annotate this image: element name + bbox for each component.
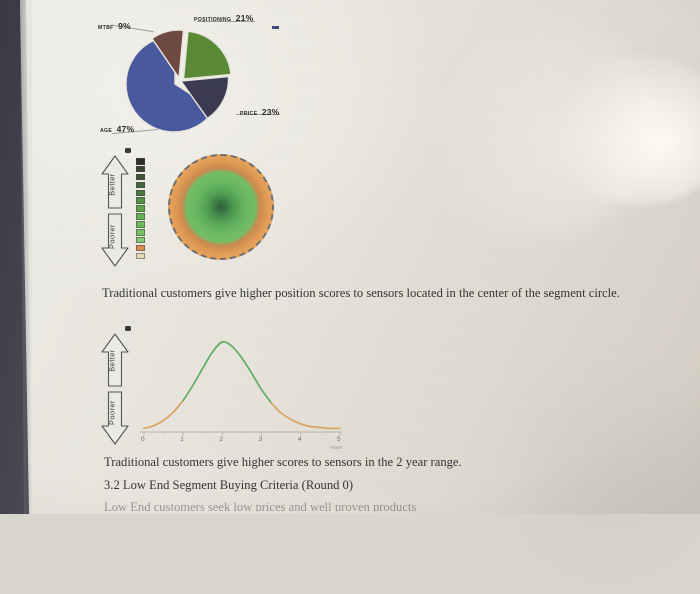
scale-marker-dot-2	[125, 326, 131, 331]
legend-swatch-7	[136, 213, 145, 220]
arrow-label-better: Better	[108, 165, 117, 205]
segment-circle-heatmap	[168, 154, 274, 260]
paragraph-two-year-range: Traditional customers give higher scores…	[104, 455, 624, 471]
pie-label-price-category: PRICE	[240, 111, 257, 117]
x-tick-label-3: 3	[259, 436, 263, 443]
pie-slice-positioning	[184, 31, 232, 79]
x-tick-label-5: 5	[337, 436, 341, 443]
better-poorer-arrow-scale: Better Poorer	[98, 152, 132, 270]
document-content: MTBF 9% POSITIONING 21% PRICE 23% AGE 47…	[32, 0, 672, 514]
pie-label-positioning-value: 21%	[236, 13, 254, 23]
score-color-legend	[136, 158, 147, 261]
pie-label-age: AGE 47%	[100, 119, 134, 137]
pie-label-price: PRICE 23%	[240, 102, 279, 120]
pie-label-price-value: 23%	[262, 107, 280, 117]
bell-curve-center	[183, 342, 271, 403]
better-poorer-arrow-scale-2: Better Poorer	[98, 330, 132, 448]
segment-circle-figure: Better Poorer	[98, 146, 358, 274]
bell-curve-left-tail	[144, 401, 183, 429]
pie-label-positioning-category: POSITIONING	[194, 17, 231, 23]
pie-slices	[122, 24, 240, 134]
pie-label-mtbf: MTBF 9%	[98, 16, 131, 34]
heading-low-end-buying-criteria: 3.2 Low End Segment Buying Criteria (Rou…	[104, 478, 624, 494]
legend-swatch-12	[136, 253, 145, 260]
x-axis-title: Years	[329, 445, 342, 450]
x-tick-label-2: 2	[219, 436, 223, 443]
legend-swatch-0	[136, 158, 145, 165]
x-tick-label-0: 0	[141, 436, 145, 443]
buying-criteria-pie-chart: MTBF 9% POSITIONING 21% PRICE 23% AGE 47…	[94, 6, 334, 138]
stray-dash-mark	[272, 26, 279, 29]
legend-swatch-1	[136, 166, 145, 173]
arrow-label-poorer-2: Poorer	[108, 393, 117, 433]
bell-curve-canvas	[136, 332, 346, 450]
arrow-label-poorer: Poorer	[108, 217, 117, 257]
bell-curve-path-group	[144, 342, 340, 429]
paragraph-position-scores: Traditional customers give higher positi…	[102, 286, 650, 302]
pie-label-mtbf-value: 9%	[118, 21, 131, 31]
pie-label-mtbf-category: MTBF	[98, 25, 114, 31]
scale-marker-dot	[125, 148, 131, 153]
legend-swatch-2	[136, 174, 145, 181]
legend-swatch-3	[136, 182, 145, 189]
pie-label-age-category: AGE	[100, 128, 112, 134]
bell-curve-plot: 012345 Years	[136, 332, 346, 450]
legend-swatch-10	[136, 237, 145, 244]
pie-label-age-value: 47%	[117, 124, 135, 134]
paragraph-low-end-customers-cutoff: Low End customers seek low prices and we…	[104, 500, 624, 516]
legend-swatch-6	[136, 205, 145, 212]
x-tick-label-1: 1	[180, 436, 184, 443]
pie-chart-canvas	[122, 24, 240, 134]
legend-swatch-9	[136, 229, 145, 236]
age-preference-curve-figure: Better Poorer 012345 Years	[98, 326, 358, 451]
photographed-monitor-screen: MTBF 9% POSITIONING 21% PRICE 23% AGE 47…	[0, 0, 700, 514]
legend-swatch-4	[136, 190, 145, 197]
legend-swatch-11	[136, 245, 145, 252]
x-axis-ticks	[144, 432, 340, 436]
arrow-label-better-2: Better	[108, 341, 117, 381]
pie-label-positioning: POSITIONING 21%	[194, 8, 253, 26]
bell-curve-right-tail	[271, 403, 340, 428]
x-tick-label-4: 4	[298, 436, 302, 443]
legend-swatch-5	[136, 197, 145, 204]
legend-swatch-8	[136, 221, 145, 228]
